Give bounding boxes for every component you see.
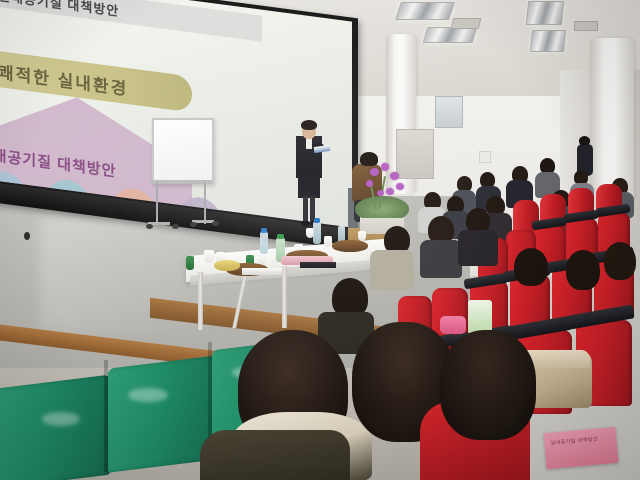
whiteboard-caster [190, 222, 197, 227]
window [435, 96, 463, 128]
flower-greenery [355, 196, 409, 218]
seat-green [0, 375, 110, 480]
orchid-flower [377, 190, 384, 196]
seminar-photo: 발표회 표회 한국대학교 환경공학과 실내공기질 대책방안 쾌적한 실내환경 실… [0, 0, 640, 480]
audience-body [420, 240, 462, 278]
audience-head [514, 248, 548, 286]
orchid-flower [390, 172, 399, 180]
food-plate [332, 240, 368, 252]
slide-header: 실내공기질 대책방안 [0, 0, 262, 42]
wall-outlet [479, 151, 491, 163]
paper-cup [204, 250, 214, 263]
seat-wear-mark [128, 388, 168, 402]
bottle-cap [277, 234, 284, 239]
column-right [590, 38, 634, 203]
paper-cup [358, 231, 366, 241]
snack-bag [468, 300, 492, 334]
orchid-flower [386, 188, 394, 195]
table-leg [198, 272, 203, 330]
whiteboard-caster [212, 221, 219, 226]
audience-body [458, 230, 498, 266]
table-leg [282, 266, 287, 328]
orchid-flower [396, 183, 404, 190]
whiteboard-leg [204, 182, 206, 224]
presenter-hair [301, 120, 317, 130]
presenter-shoe [301, 221, 310, 226]
bottle-cap [261, 228, 267, 233]
ceiling-vent [451, 18, 482, 29]
whiteboard-leg [156, 182, 158, 224]
whiteboard [152, 118, 214, 184]
whiteboard-caster [172, 224, 179, 229]
beverage-can [186, 256, 194, 270]
ceiling-light [530, 30, 566, 52]
ceiling-vent [574, 21, 598, 31]
foreground-attendee-head [440, 330, 536, 440]
water-bottle [260, 232, 268, 254]
slide-pill: 쾌적한 실내환경 [0, 45, 192, 113]
ceiling-light [395, 2, 455, 20]
orchid-flower [381, 163, 389, 171]
seat-wear-mark [42, 412, 80, 426]
document-stack [300, 262, 336, 268]
ceiling-light [423, 27, 478, 43]
foreground-attendee-coat [200, 430, 350, 480]
water-bottle [313, 222, 321, 244]
presenter-document [314, 145, 331, 153]
seat-divider [104, 360, 108, 472]
floor-marker [24, 232, 30, 240]
presenter-skirt [298, 176, 320, 198]
assistant-head [360, 152, 378, 166]
orchid-flower [370, 168, 379, 176]
audience-head [604, 242, 636, 280]
whiteboard-caster [146, 224, 153, 229]
presenter-leg [303, 196, 308, 222]
whiteboard-tray [150, 180, 212, 184]
back-cabinet [396, 129, 434, 179]
attendee-head [579, 136, 590, 145]
pamphlet: 실내공기질 대책방안 [544, 427, 619, 469]
presenter [292, 122, 328, 227]
pamphlet-text: 실내공기질 대책방안 [550, 436, 598, 448]
document-stack [242, 268, 282, 275]
paper-cup [258, 253, 266, 264]
ceiling-light [526, 1, 565, 25]
audience-body [370, 250, 414, 290]
bottle-cap [314, 218, 320, 223]
paper-cup [324, 236, 332, 247]
pink-item [440, 316, 466, 334]
food-plate [214, 260, 240, 271]
orchid-flower [366, 180, 373, 187]
audience-head [566, 250, 600, 290]
